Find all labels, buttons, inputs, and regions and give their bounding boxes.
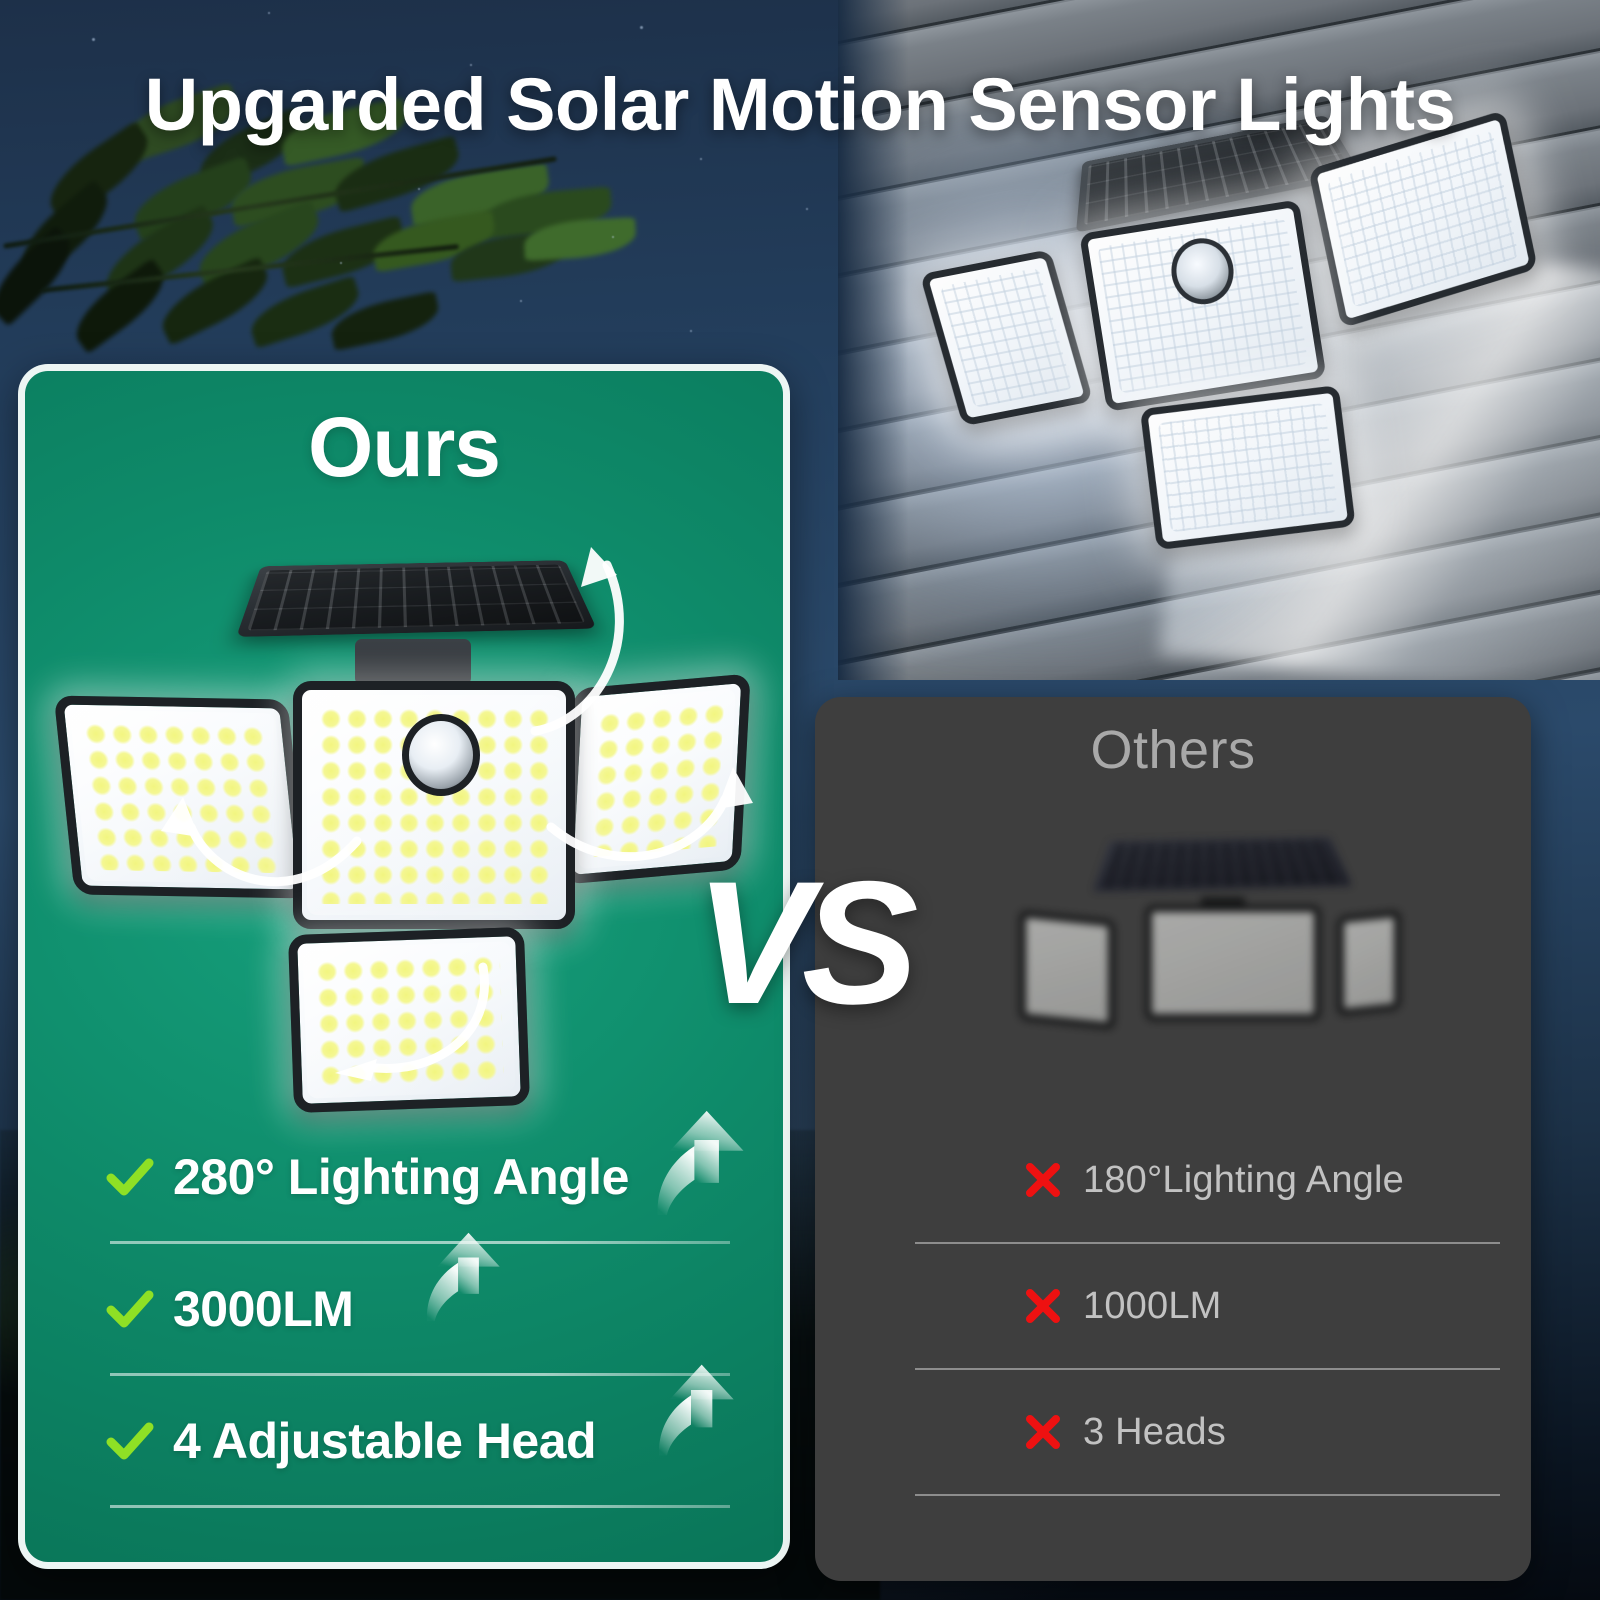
divider — [915, 1494, 1500, 1496]
check-icon — [105, 1416, 155, 1466]
page-title: Upgarded Solar Motion Sensor Lights — [0, 62, 1600, 147]
solar-panel-icon — [1093, 837, 1353, 892]
others-heading: Others — [815, 719, 1531, 781]
led-head-left — [1019, 910, 1115, 1030]
led-head-right — [1337, 910, 1401, 1017]
check-icon — [105, 1152, 155, 1202]
led-head-center — [293, 681, 575, 929]
ours-product-image — [55, 531, 745, 1051]
solar-panel-icon — [236, 560, 596, 637]
x-icon — [1025, 1288, 1061, 1324]
ours-feature-list: 280° Lighting Angle 3000LM 4 Adjustable … — [25, 1111, 783, 1507]
led-head-bottom — [1140, 385, 1356, 550]
led-head-bottom — [288, 927, 530, 1113]
led-head-left — [54, 696, 309, 899]
others-feature-row: 3 Heads — [815, 1369, 1531, 1495]
ours-feature-row: 4 Adjustable Head — [25, 1375, 783, 1507]
led-head-left — [920, 249, 1094, 426]
ours-feature-row: 3000LM — [25, 1243, 783, 1375]
infographic-canvas: Upgarded Solar Motion Sensor Lights Ours — [0, 0, 1600, 1600]
ours-heading: Ours — [25, 399, 783, 496]
ours-feature-label: 3000LM — [173, 1280, 353, 1338]
others-feature-row: 180°Lighting Angle — [815, 1117, 1531, 1243]
x-icon — [1025, 1162, 1061, 1198]
check-icon — [105, 1284, 155, 1334]
others-feature-label: 3 Heads — [1083, 1411, 1226, 1454]
others-product-image — [955, 809, 1415, 1089]
ours-card: Ours — [18, 364, 790, 1569]
ours-feature-row: 280° Lighting Angle — [25, 1111, 783, 1243]
ours-feature-label: 280° Lighting Angle — [173, 1148, 629, 1206]
others-feature-label: 180°Lighting Angle — [1083, 1159, 1404, 1202]
ours-feature-label: 4 Adjustable Head — [173, 1412, 596, 1470]
others-feature-list: 180°Lighting Angle 1000LM 3 Heads — [815, 1117, 1531, 1495]
others-feature-row: 1000LM — [815, 1243, 1531, 1369]
led-head-center — [1079, 199, 1326, 412]
others-feature-label: 1000LM — [1083, 1285, 1222, 1328]
led-head-center — [1145, 905, 1321, 1021]
others-card: Others 180°Lighting Angle 1000LM 3 Heads — [815, 697, 1531, 1581]
vs-badge: VS — [695, 856, 908, 1031]
divider — [110, 1505, 730, 1508]
motion-sensor-icon — [402, 714, 480, 796]
mounting-bracket — [355, 639, 471, 685]
x-icon — [1025, 1414, 1061, 1450]
